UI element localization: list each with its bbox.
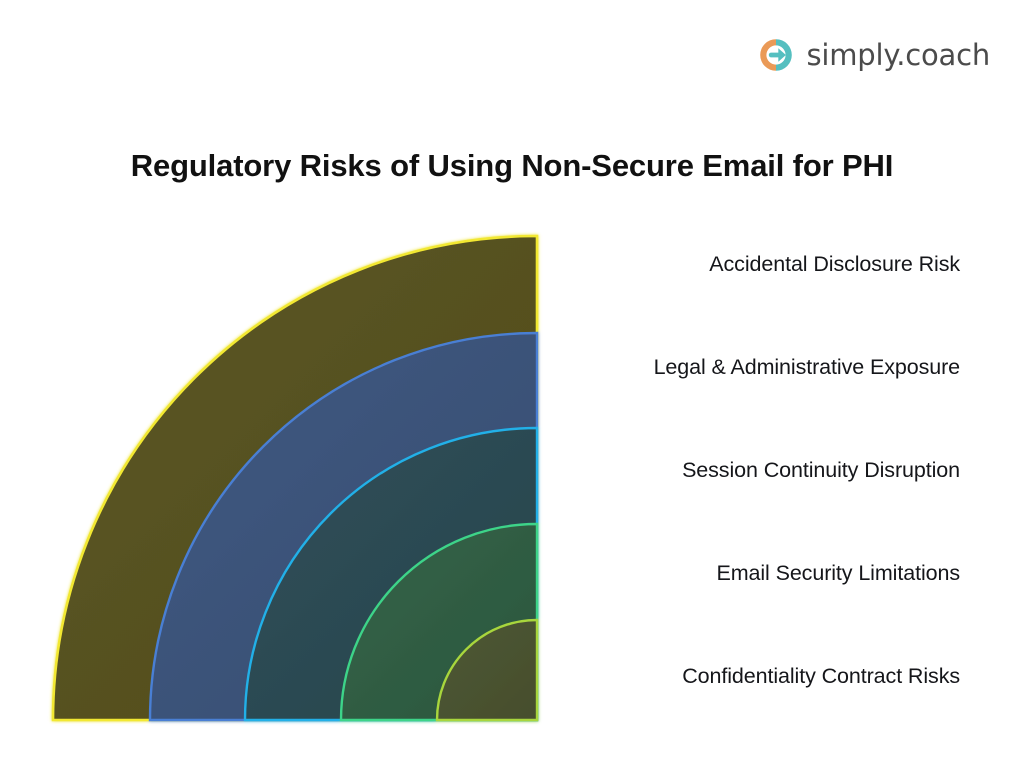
infographic-page: simply.coach Regulatory Risks of Using N… [0, 0, 1024, 775]
page-title: Regulatory Risks of Using Non-Secure Ema… [0, 147, 1024, 186]
risk-label-legal-administrative-exposure: Legal & Administrative Exposure [560, 355, 960, 381]
brand-wordmark: simply.coach [806, 41, 990, 70]
risk-label-session-continuity-disruption: Session Continuity Disruption [560, 458, 960, 484]
risk-label-list: Accidental Disclosure Risk Legal & Admin… [560, 230, 960, 720]
brand-logo: simply.coach [757, 34, 990, 76]
risk-label-email-security-limitations: Email Security Limitations [560, 561, 960, 587]
arc-chart-svg [40, 218, 560, 733]
simply-coach-circular-arrow-icon [757, 36, 795, 74]
risk-label-accidental-disclosure-risk: Accidental Disclosure Risk [560, 252, 960, 278]
risk-label-confidentiality-contract-risks: Confidentiality Contract Risks [560, 664, 960, 690]
nested-arc-diagram [40, 218, 560, 733]
